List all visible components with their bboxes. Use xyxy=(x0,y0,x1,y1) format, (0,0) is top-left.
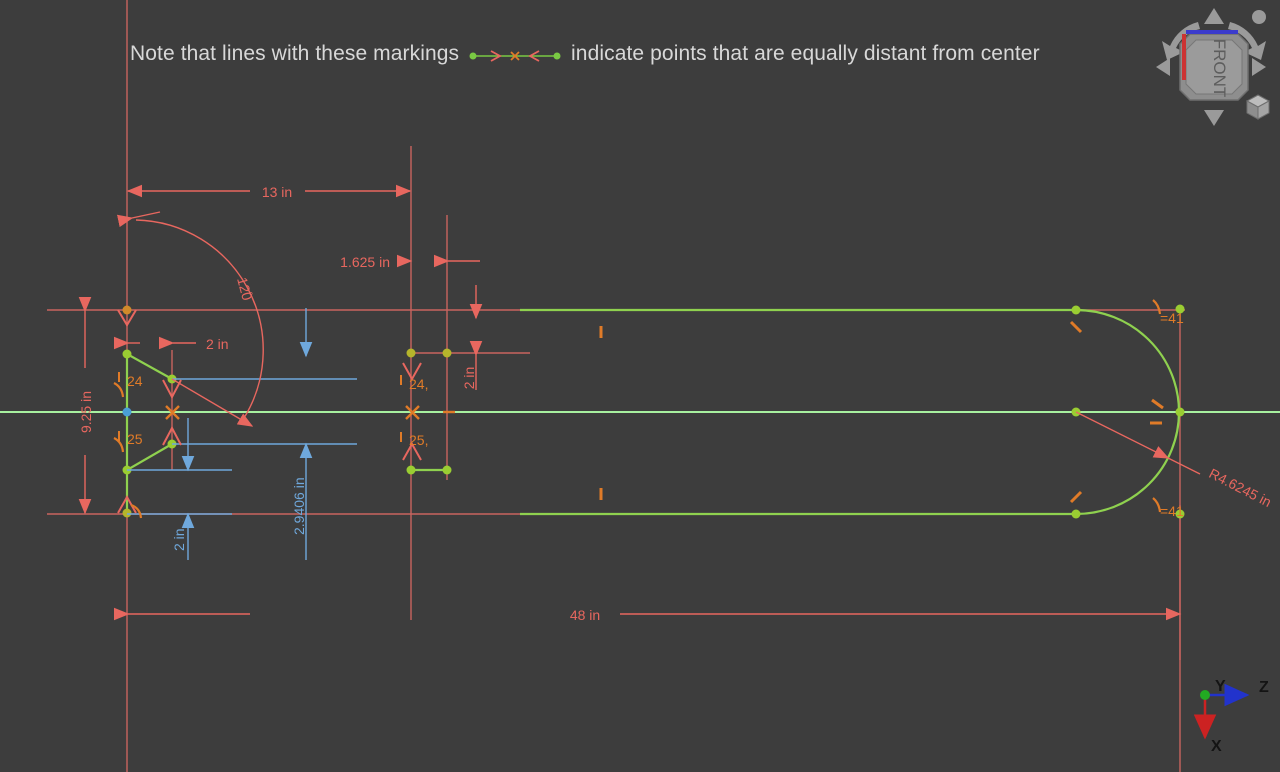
axis-label-y: Y xyxy=(1215,678,1226,695)
dimension-label-2in-mid[interactable]: 2 in xyxy=(461,367,477,390)
axis-label-x: X xyxy=(1211,738,1222,755)
constraint-label-equal-41-bottom[interactable]: =41 xyxy=(1160,503,1184,519)
dimension-label-2in-blue[interactable]: 2 in xyxy=(171,528,187,551)
constraint-label-24-left[interactable]: 24 xyxy=(127,373,143,389)
dimension-label-48in[interactable]: 48 in xyxy=(570,607,600,623)
cad-sketch-viewport[interactable]: 13 in 1.625 in 2 in 9.25 in 120 ° 2 in 4… xyxy=(0,0,1280,772)
dimension-label-29406in[interactable]: 2.9406 in xyxy=(291,477,307,535)
constraint-tick-marks xyxy=(119,372,401,442)
annotation-note-before: Note that lines with these markings xyxy=(130,42,459,65)
axis-triad: Y Z X xyxy=(1185,675,1280,765)
home-dot-icon[interactable] xyxy=(1248,6,1270,28)
isometric-cube-icon[interactable] xyxy=(1244,92,1272,122)
constraint-label-equal-41-top[interactable]: =41 xyxy=(1160,310,1184,326)
axis-origin-y xyxy=(1200,690,1210,700)
dimension-label-2in-left[interactable]: 2 in xyxy=(206,336,229,352)
dimension-label-1625in[interactable]: 1.625 in xyxy=(340,254,390,270)
constraint-label-25-mid[interactable]: 25, xyxy=(409,432,428,448)
constraint-label-25-left[interactable]: 25 xyxy=(127,431,143,447)
navcube-face-label: FRONT xyxy=(1210,39,1229,98)
rotate-up-arrow[interactable] xyxy=(1204,8,1224,24)
dimension-label-120deg-unit: ° xyxy=(249,291,253,303)
annotation-note: Note that lines with these markings indi… xyxy=(130,42,1040,66)
dimension-label-13in[interactable]: 13 in xyxy=(262,184,292,200)
dimension-label-radius[interactable]: R4.6245 in xyxy=(1206,465,1274,510)
view-navigation-cube[interactable]: FRONT xyxy=(1148,2,1280,132)
dimension-text-layer: 13 in 1.625 in 2 in 9.25 in 120 ° 2 in 4… xyxy=(0,0,1280,772)
rotate-right-arrow[interactable] xyxy=(1252,58,1266,76)
rotate-left-arrow[interactable] xyxy=(1156,58,1170,76)
dimension-label-925in[interactable]: 9.25 in xyxy=(78,391,94,433)
rotate-down-arrow[interactable] xyxy=(1204,110,1224,126)
constraint-label-24-mid[interactable]: 24, xyxy=(409,376,428,392)
annotation-note-after: indicate points that are equally distant… xyxy=(571,42,1040,65)
axis-label-z: Z xyxy=(1259,679,1269,696)
equal-distance-marker-icon xyxy=(469,45,561,59)
